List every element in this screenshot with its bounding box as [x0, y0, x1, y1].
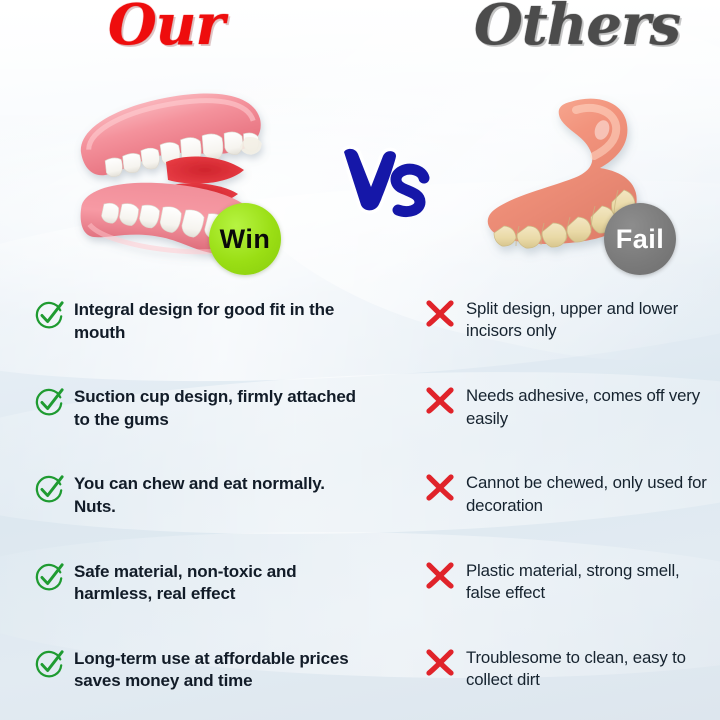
- check-circle-icon: [34, 474, 64, 504]
- check-circle-icon: [34, 562, 64, 592]
- con-item: Split design, upper and lower incisors o…: [424, 284, 714, 343]
- header-row: Our Others: [0, 0, 720, 62]
- cross-icon: [424, 559, 456, 591]
- con-text: Split design, upper and lower incisors o…: [466, 298, 714, 343]
- check-circle-icon: [34, 300, 64, 330]
- con-text: Needs adhesive, comes off very easily: [466, 385, 714, 430]
- header-others: Others: [474, 0, 680, 56]
- badge-fail: Fail: [604, 203, 676, 275]
- con-text: Troublesome to clean, easy to collect di…: [466, 647, 714, 692]
- pro-text: Safe material, non-toxic and harmless, r…: [74, 561, 364, 606]
- header-our: Our: [108, 0, 224, 56]
- con-text: Plastic material, strong smell, false ef…: [466, 560, 714, 605]
- cross-icon: [424, 384, 456, 416]
- con-item: Plastic material, strong smell, false ef…: [424, 546, 714, 605]
- versus-mark: [336, 142, 432, 218]
- cross-icon: [424, 646, 456, 678]
- con-item: Needs adhesive, comes off very easily: [424, 371, 714, 430]
- badge-win: Win: [209, 203, 281, 275]
- feature-row: Suction cup design, firmly attached to t…: [0, 371, 720, 458]
- pro-item: Suction cup design, firmly attached to t…: [34, 371, 364, 431]
- pro-item: You can chew and eat normally. Nuts.: [34, 458, 364, 518]
- pro-text: Long-term use at affordable prices saves…: [74, 648, 364, 693]
- pro-text: Integral design for good fit in the mout…: [74, 299, 364, 344]
- pro-item: Safe material, non-toxic and harmless, r…: [34, 546, 364, 606]
- feature-list: Integral design for good fit in the mout…: [0, 284, 720, 720]
- con-item: Troublesome to clean, easy to collect di…: [424, 633, 714, 692]
- feature-row: Integral design for good fit in the mout…: [0, 284, 720, 371]
- feature-row: Long-term use at affordable prices saves…: [0, 633, 720, 720]
- pro-text: You can chew and eat normally. Nuts.: [74, 473, 364, 518]
- cross-icon: [424, 471, 456, 503]
- pro-item: Long-term use at affordable prices saves…: [34, 633, 364, 693]
- check-circle-icon: [34, 649, 64, 679]
- cross-icon: [424, 297, 456, 329]
- con-text: Cannot be chewed, only used for decorati…: [466, 472, 714, 517]
- con-item: Cannot be chewed, only used for decorati…: [424, 458, 714, 517]
- check-circle-icon: [34, 387, 64, 417]
- feature-row: Safe material, non-toxic and harmless, r…: [0, 546, 720, 633]
- comparison-infographic: Our Others: [0, 0, 720, 720]
- pro-text: Suction cup design, firmly attached to t…: [74, 386, 364, 431]
- feature-row: You can chew and eat normally. Nuts. Can…: [0, 458, 720, 545]
- pro-item: Integral design for good fit in the mout…: [34, 284, 364, 344]
